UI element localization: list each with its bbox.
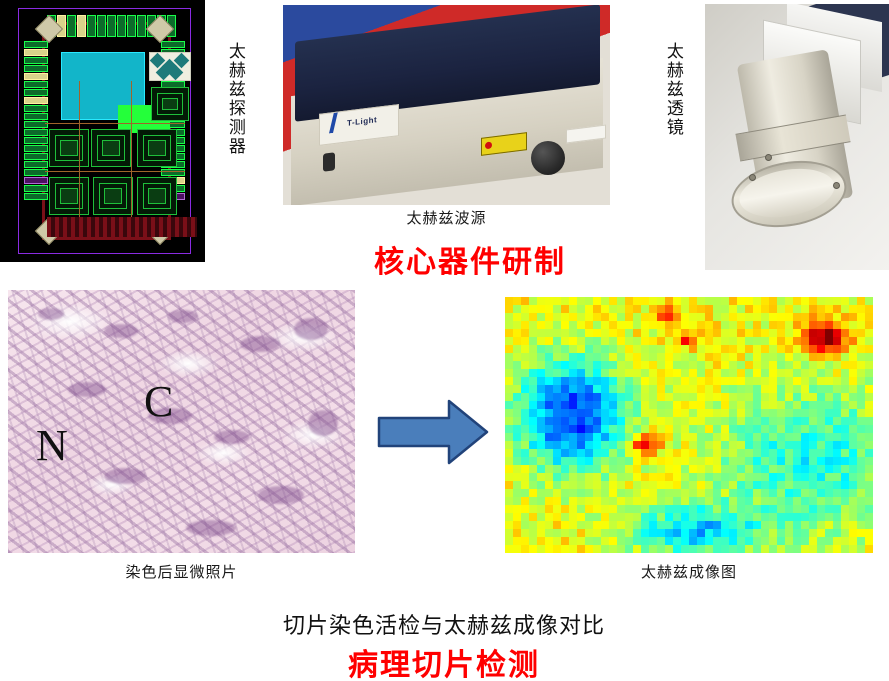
caption-comparison: 切片染色活检与太赫兹成像对比: [219, 608, 669, 640]
comparison-arrow-icon: [377, 398, 489, 466]
chip-antenna-pattern: [149, 52, 191, 81]
stained-micrograph-photo: N C: [8, 290, 355, 553]
terahertz-imaging-heatmap: [505, 297, 873, 553]
terahertz-detector-chip-layout: [0, 0, 205, 262]
terahertz-lens-photo: [705, 4, 889, 270]
caption-stained-micrograph: 染色后显微照片: [8, 561, 355, 582]
annotation-cancer-tissue: C: [144, 380, 173, 424]
chip-sensor-array: [61, 52, 145, 120]
label-terahertz-detector: 太赫兹探测器: [226, 42, 244, 156]
caption-terahertz-source: 太赫兹波源: [283, 207, 610, 228]
headline-pathology-slide-detection: 病理切片检测: [219, 640, 669, 681]
terahertz-source-photo: T-Light: [283, 5, 610, 205]
device-knob: [531, 141, 565, 175]
headline-core-device-development: 核心器件研制: [330, 237, 610, 281]
slide-root: 太赫兹探测器 T-Light 太赫兹波源 太赫兹透镜 核心器件研制: [0, 0, 889, 681]
caption-terahertz-image: 太赫兹成像图: [505, 561, 873, 582]
label-terahertz-lens: 太赫兹透镜: [664, 42, 682, 137]
heatmap-canvas: [505, 297, 873, 553]
annotation-normal-tissue: N: [36, 424, 68, 468]
